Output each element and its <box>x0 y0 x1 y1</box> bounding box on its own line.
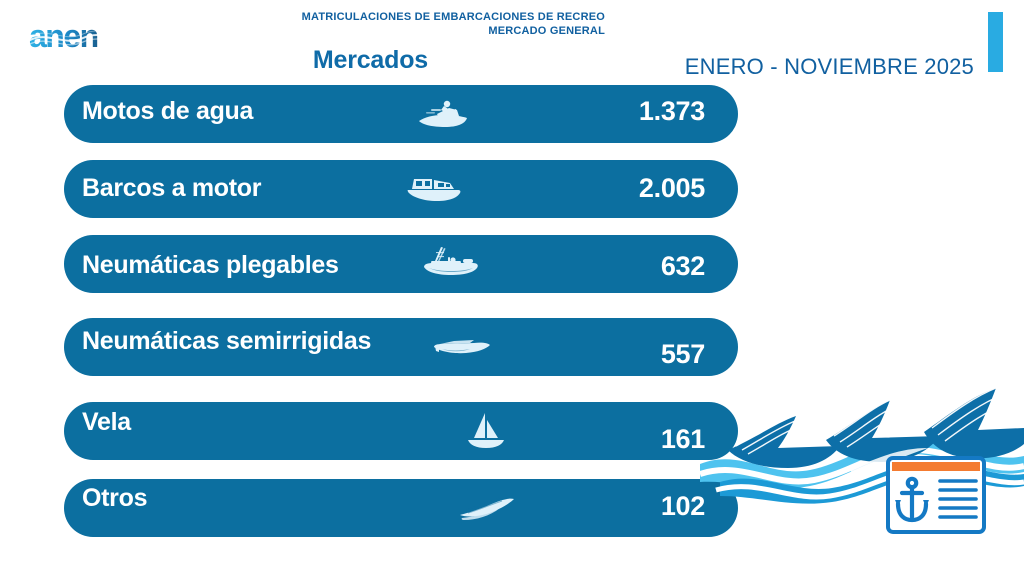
market-rows: Motos de agua 1.373 Barcos <box>0 0 1024 576</box>
row-value: 161 <box>661 424 705 455</box>
table-row[interactable]: Vela 161 <box>64 402 738 460</box>
row-label: Neumáticas plegables <box>82 251 339 280</box>
row-value: 557 <box>661 339 705 370</box>
infographic-page: anen MATRICULACIONES DE EMBARCACIONES DE… <box>0 0 1024 576</box>
registration-card-icon <box>884 454 988 536</box>
sailboat-icon <box>452 411 518 451</box>
yacht-icon <box>454 493 520 533</box>
row-label: Neumáticas semirrigidas <box>82 327 371 356</box>
table-row[interactable]: Barcos a motor 2.005 <box>64 160 738 218</box>
row-value: 1.373 <box>639 96 705 127</box>
row-value: 632 <box>661 251 705 282</box>
row-label: Motos de agua <box>82 97 253 126</box>
rib-boat-icon <box>430 328 496 368</box>
row-value: 102 <box>661 491 705 522</box>
table-row[interactable]: Otros 102 <box>64 479 738 537</box>
row-value: 2.005 <box>639 173 705 204</box>
motorboat-icon <box>402 167 468 207</box>
table-row[interactable]: Neumáticas plegables <box>64 235 738 293</box>
inflatable-dinghy-icon <box>419 242 485 282</box>
row-label: Barcos a motor <box>82 174 261 203</box>
table-row[interactable]: Neumáticas semirrigidas 557 <box>64 318 738 376</box>
row-label: Otros <box>82 484 147 513</box>
row-label: Vela <box>82 408 131 437</box>
table-row[interactable]: Motos de agua 1.373 <box>64 85 738 143</box>
jetski-icon <box>409 94 475 134</box>
